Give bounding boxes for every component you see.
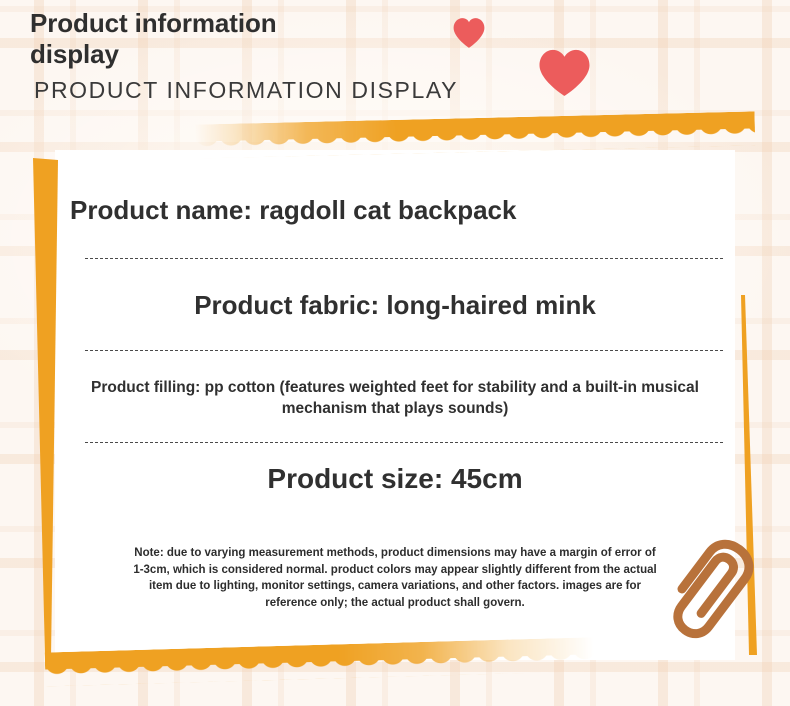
heart-icon-small (452, 17, 486, 49)
row-product-fabric: Product fabric: long-haired mink (55, 290, 735, 321)
page-subtitle: PRODUCT INFORMATION DISPLAY (34, 77, 550, 104)
row-product-filling: Product filling: pp cotton (features wei… (55, 378, 735, 420)
product-fabric-text: Product fabric: long-haired mink (55, 290, 735, 321)
product-info-banner: Product information display PRODUCT INFO… (0, 0, 790, 706)
disclaimer-note-text: Note: due to varying measurement methods… (55, 545, 735, 612)
row-product-name: Product name: ragdoll cat backpack (55, 195, 735, 226)
divider-3 (85, 442, 723, 443)
paperclip-icon (662, 534, 758, 646)
product-details: Product name: ragdoll cat backpack Produ… (55, 150, 735, 660)
row-disclaimer-note: Note: due to varying measurement methods… (55, 545, 735, 612)
product-filling-text: Product filling: pp cotton (features wei… (55, 378, 735, 420)
divider-1 (85, 258, 723, 259)
heart-icon-large (537, 48, 592, 98)
divider-2 (85, 350, 723, 351)
product-size-text: Product size: 45cm (55, 463, 735, 495)
product-name-text: Product name: ragdoll cat backpack (55, 195, 735, 226)
row-product-size: Product size: 45cm (55, 463, 735, 495)
